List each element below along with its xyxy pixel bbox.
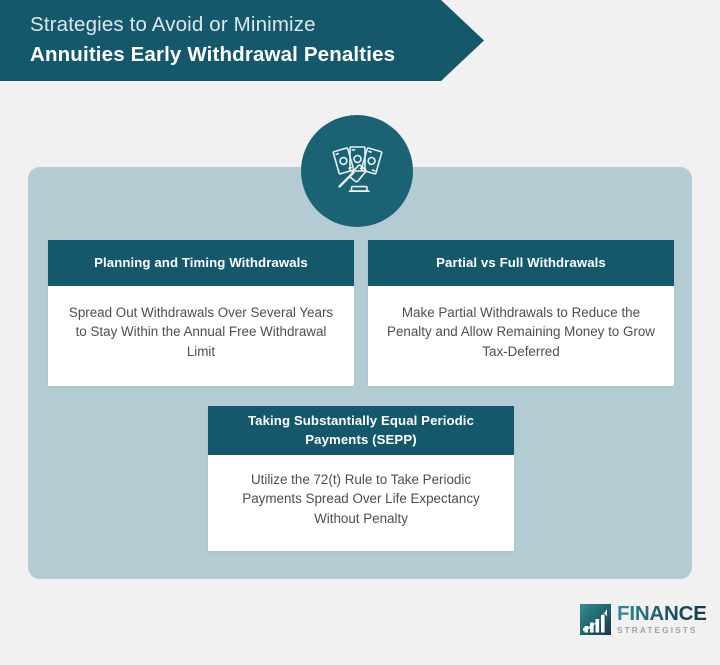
logo-subtitle: STRATEGISTS	[617, 626, 707, 634]
strategy-card-body: Utilize the 72(t) Rule to Take Periodic …	[208, 455, 514, 551]
header-title-line-2: Annuities Early Withdrawal Penalties	[30, 41, 484, 68]
gavel-and-money-icon	[301, 115, 413, 227]
header-banner: Strategies to Avoid or Minimize Annuitie…	[0, 0, 484, 81]
finance-strategists-chart-mark	[578, 602, 613, 637]
strategy-card: Taking Substantially Equal Periodic Paym…	[208, 406, 514, 551]
gavel-and-money-glyph	[327, 141, 387, 201]
strategy-card-body: Spread Out Withdrawals Over Several Year…	[48, 286, 354, 386]
strategy-card-title: Taking Substantially Equal Periodic Paym…	[208, 406, 514, 455]
strategy-card: Partial vs Full Withdrawals Make Partial…	[368, 240, 674, 386]
strategy-card-title: Planning and Timing Withdrawals	[48, 240, 354, 286]
strategy-card-body: Make Partial Withdrawals to Reduce the P…	[368, 286, 674, 386]
logo-name: FINANCE	[617, 604, 707, 625]
finance-strategists-logo: FINANCE STRATEGISTS	[578, 599, 702, 639]
header-title-line-1: Strategies to Avoid or Minimize	[30, 11, 484, 38]
strategy-card-title: Partial vs Full Withdrawals	[368, 240, 674, 286]
strategy-card: Planning and Timing Withdrawals Spread O…	[48, 240, 354, 386]
